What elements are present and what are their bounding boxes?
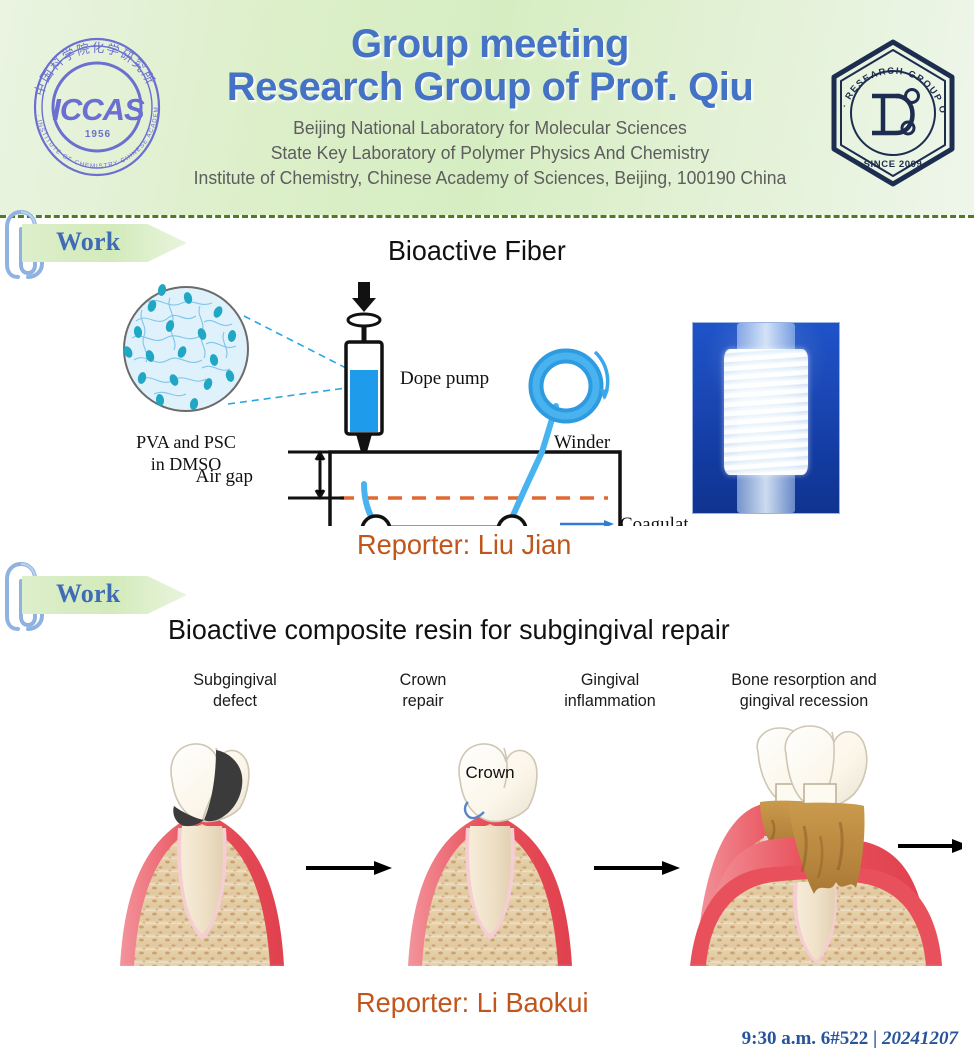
research-group-badge: · RESEARCH GROUP OF PROF. DONG QIU · SIN…	[826, 38, 960, 188]
work-banner-2: Work	[0, 570, 200, 616]
svg-text:ICCAS: ICCAS	[52, 92, 145, 127]
dope-pump-label: Dope pump	[400, 368, 489, 389]
footer-time-room: 9:30 a.m. 6#522 |	[742, 1028, 878, 1049]
coagulation-bath-label: Coagulation bath	[620, 514, 688, 526]
stage-label-1-line1: Subgingival	[145, 670, 326, 691]
work-banner-label-1: Work	[56, 227, 120, 257]
section-title-2: Bioactive composite resin for subgingiva…	[168, 614, 730, 646]
air-gap-label: Air gap	[195, 466, 253, 487]
stage-label-4-line2: gingival recession	[677, 691, 932, 712]
crown-inline-label: Crown	[465, 763, 514, 782]
meeting-title-line1: Group meeting	[160, 24, 820, 65]
svg-text:1956: 1956	[85, 129, 111, 140]
stage-label-1: Subgingival defect	[145, 670, 326, 711]
stage-label-4-line1: Bone resorption and	[677, 670, 932, 691]
stage-label-2-line2: repair	[333, 691, 514, 712]
tooth-stage-4	[690, 716, 960, 984]
stage-label-2: Crown repair	[333, 670, 514, 711]
page-header: 中国科学院化学研究所 · INSTITUTE OF CHEMISTRY CHIN…	[0, 0, 974, 215]
wet-spinning-diagram: PVA and PSC in DMSO Dope pump Air gap	[108, 276, 688, 526]
reporter-1: Reporter: Liu Jian	[357, 529, 571, 561]
tooth-stage-2: Crown	[400, 744, 580, 984]
work-banner-label-2: Work	[56, 579, 120, 609]
footer-date: 20241207	[882, 1028, 958, 1049]
header-title-block: Group meeting Research Group of Prof. Qi…	[160, 24, 820, 191]
winder-label: Winder	[554, 432, 611, 453]
slide-page: 中国科学院化学研究所 · INSTITUTE OF CHEMISTRY CHIN…	[0, 0, 974, 1060]
subtitle-line-3: Institute of Chemistry, Chinese Academy …	[177, 166, 804, 191]
stage-label-2-line1: Crown	[333, 670, 514, 691]
wound-fiber	[724, 349, 808, 475]
header-subtitle: Beijing National Laboratory for Molecula…	[177, 116, 804, 191]
footer-meta: 9:30 a.m. 6#522 | 20241207	[742, 1028, 958, 1050]
subtitle-line-1: Beijing National Laboratory for Molecula…	[177, 116, 804, 141]
reporter-2: Reporter: Li Baokui	[356, 987, 588, 1019]
tooth-stage-labels: Subgingival defect Crown repair Gingival…	[100, 668, 974, 716]
tooth-stage-1	[112, 744, 292, 984]
stage-label-1-line2: defect	[145, 691, 326, 712]
svg-text:SINCE 2009: SINCE 2009	[864, 159, 923, 170]
work-banner-1: Work	[0, 218, 200, 264]
subtitle-line-2: State Key Laboratory of Polymer Physics …	[177, 141, 804, 166]
svg-text:· RESEARCH GROUP OF PROF. DONG: · RESEARCH GROUP OF PROF. DONG QIU ·	[826, 38, 949, 115]
stage-label-4: Bone resorption and gingival recession	[677, 670, 932, 711]
fiber-bundle-photo	[692, 322, 840, 514]
iccas-logo: 中国科学院化学研究所 · INSTITUTE OF CHEMISTRY CHIN…	[22, 32, 172, 182]
meeting-title-line2: Research Group of Prof. Qiu	[160, 67, 820, 108]
section-title-1: Bioactive Fiber	[388, 235, 566, 267]
solution-label-line1: PVA and PSC	[136, 432, 236, 452]
